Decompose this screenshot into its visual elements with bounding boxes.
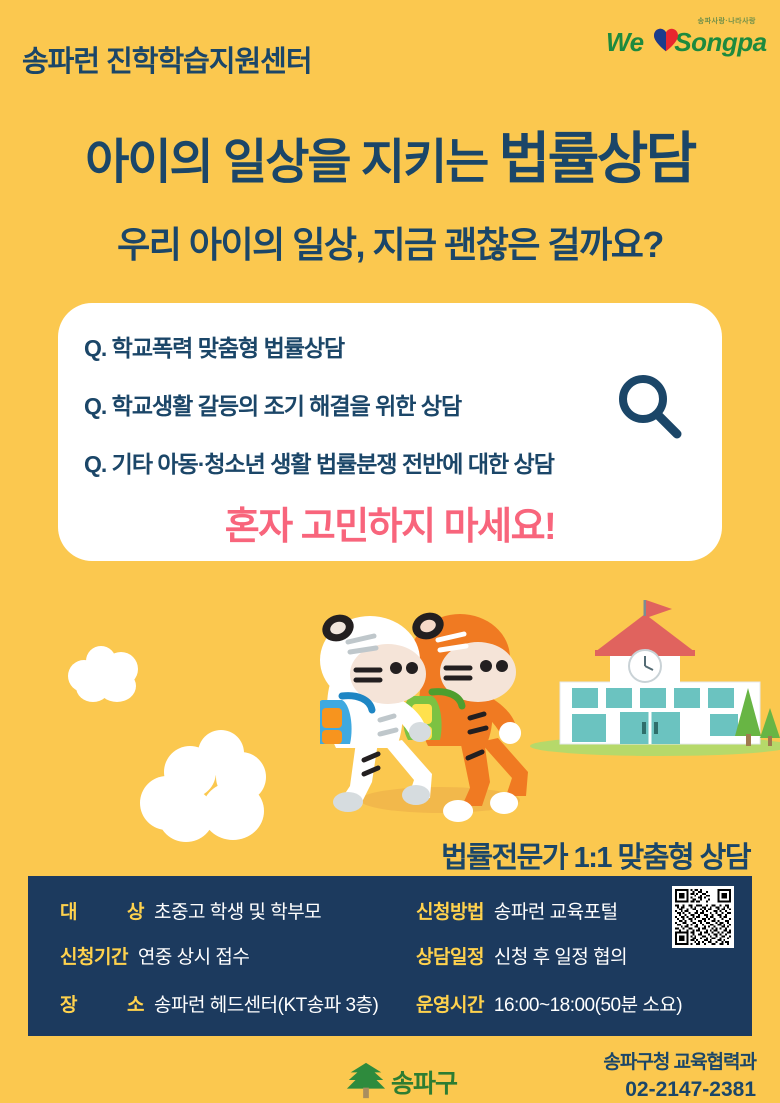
info-label-hours: 운영시간: [416, 990, 484, 1017]
footer-contact: 송파구청 교육협력과 02-2147-2381: [603, 1050, 756, 1103]
info-value-period: 연중 상시 접수: [138, 942, 249, 969]
question-item-3: Q. 기타 아동·청소년 생활 법률분쟁 전반에 대한 상담: [84, 445, 554, 479]
logo-wordmark: We.Songpa: [606, 27, 767, 58]
hero-subtitle: 우리 아이의 일상, 지금 괜찮은 걸까요?: [0, 216, 780, 268]
page-title: 송파런 진학학습지원센터: [22, 38, 312, 80]
expert-consult-line: 법률전문가 1:1 맞춤형 상담: [441, 834, 750, 876]
question-item-2: Q. 학교생활 갈등의 조기 해결을 위한 상담: [84, 387, 461, 421]
songpa-gu-logo-text: 송파구: [391, 1064, 457, 1100]
question-item-1: Q. 학교폭력 맞춤형 법률상담: [84, 329, 344, 363]
logo-word-right: Songpa: [674, 27, 766, 57]
info-row-hours: 운영시간 16:00~18:00(50분 소요): [416, 990, 682, 1017]
info-label-method: 신청방법: [416, 897, 484, 924]
info-value-schedule: 신청 후 일정 협의: [494, 942, 627, 969]
info-row-schedule: 상담일정 신청 후 일정 협의: [416, 942, 627, 969]
pine-tree-icon: [345, 1060, 387, 1100]
info-value-target: 초중고 학생 및 학부모: [154, 897, 321, 924]
info-row-period: 신청기간 연중 상시 접수: [60, 942, 249, 969]
info-value-hours: 16:00~18:00(50분 소요): [494, 990, 682, 1017]
hero-title: 아이의 일상을 지키는 법률상담: [0, 131, 780, 187]
we-songpa-logo: 송파사랑·나라사랑 We.Songpa: [606, 16, 758, 60]
info-label-period: 신청기간: [60, 942, 128, 969]
info-label-schedule: 상담일정: [416, 942, 484, 969]
logo-tagline: 송파사랑·나라사랑: [698, 16, 756, 26]
question-card: Q. 학교폭력 맞춤형 법률상담 Q. 학교생활 갈등의 조기 해결을 위한 상…: [58, 303, 722, 561]
magnifying-glass-icon: [614, 371, 686, 443]
hero-title-plain: 아이의 일상을 지키는: [85, 136, 498, 189]
info-value-place: 송파런 헤드센터(KT송파 3층): [154, 990, 378, 1017]
songpa-gu-logo: 송파구: [345, 1058, 465, 1098]
school-illustration: [320, 600, 780, 850]
cloud-small: [68, 638, 140, 704]
logo-word-left: We: [606, 27, 644, 57]
footer-department: 송파구청 교육협력과: [603, 1050, 756, 1076]
footer-phone: 02-2147-2381: [603, 1076, 756, 1103]
cloud-large: [140, 730, 266, 846]
info-value-method: 송파런 교육포털: [494, 897, 618, 924]
qr-code-icon[interactable]: [672, 886, 734, 948]
info-row-place: 장소 송파런 헤드센터(KT송파 3층): [60, 990, 378, 1017]
info-label-place: 장소: [60, 990, 144, 1017]
school-building: [560, 600, 760, 744]
poster-root: 송파런 진학학습지원센터 송파사랑·나라사랑 We.Songpa 아이의 일상을…: [0, 0, 780, 1103]
info-row-target: 대상 초중고 학생 및 학부모: [60, 897, 321, 924]
hero-title-emphasis: 법률상담: [499, 127, 695, 190]
info-label-target: 대상: [60, 897, 144, 924]
call-to-action-text: 혼자 고민하지 마세요!: [58, 495, 722, 550]
heart-icon: [653, 28, 679, 52]
info-box: 대상 초중고 학생 및 학부모 신청기간 연중 상시 접수 장소 송파런 헤드센…: [28, 876, 752, 1036]
info-row-method: 신청방법 송파런 교육포털: [416, 897, 618, 924]
